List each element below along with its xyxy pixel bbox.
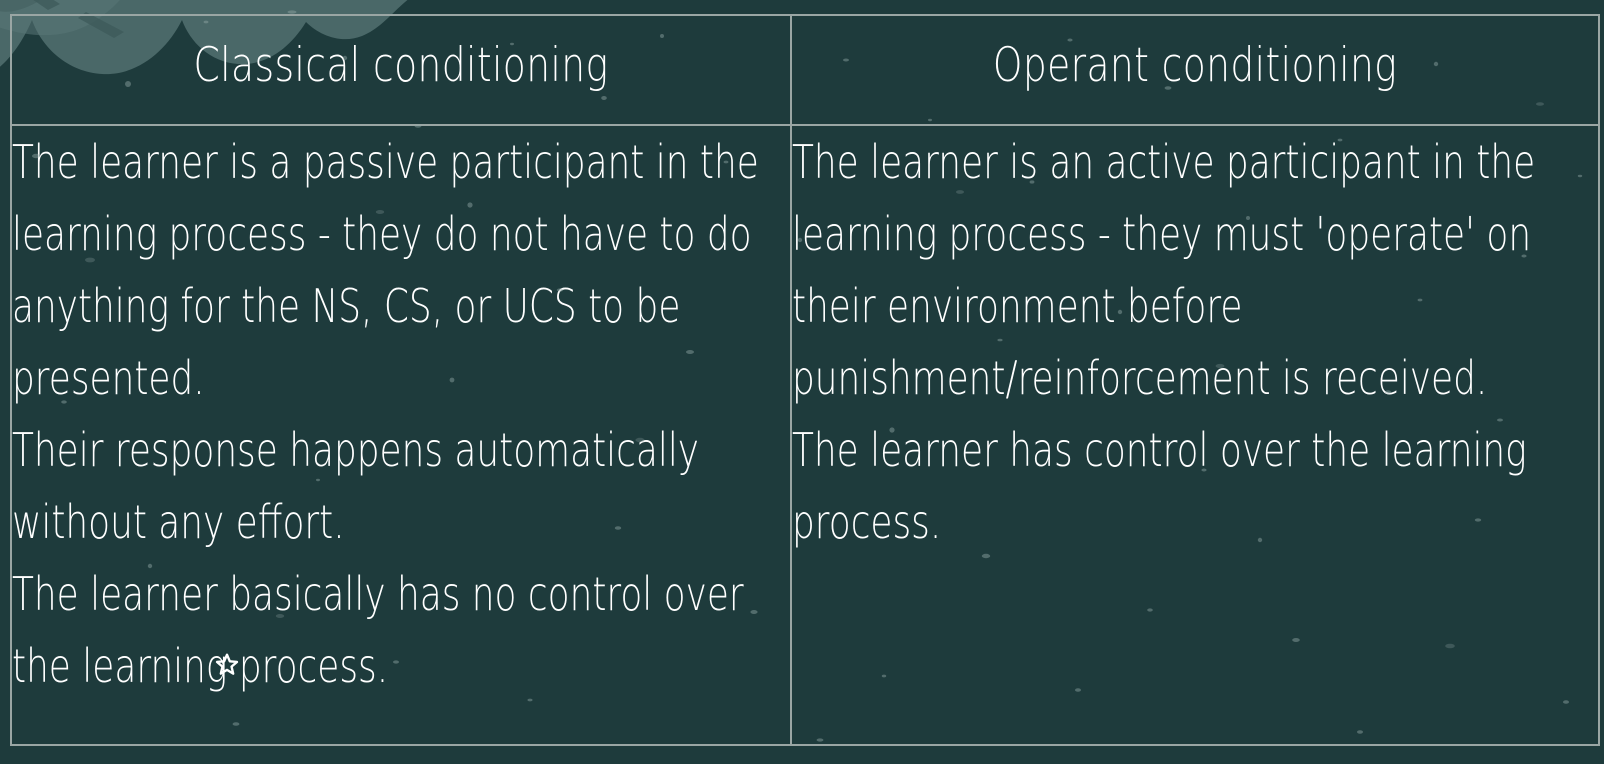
cell-operant-conditioning-body: The learner is an active participant in … (791, 125, 1599, 745)
column-header-operant-conditioning: Operant conditioning (791, 15, 1599, 125)
column-header-classical-conditioning: Classical conditioning (11, 15, 791, 125)
cell-classical-conditioning-body: The learner is a passive participant in … (11, 125, 791, 745)
column-header-label: Classical conditioning (90, 16, 712, 89)
comparison-table: Classical conditioning Operant condition… (10, 14, 1600, 746)
cell-body-text: The learner is an active participant in … (792, 126, 1597, 558)
table-body-row: The learner is a passive participant in … (11, 125, 1599, 745)
cell-body-text: The learner is a passive participant in … (12, 126, 789, 702)
column-header-label: Operant conditioning (873, 16, 1518, 89)
table-header-row: Classical conditioning Operant condition… (11, 15, 1599, 125)
slide-canvas: Classical conditioning Operant condition… (0, 0, 1604, 764)
